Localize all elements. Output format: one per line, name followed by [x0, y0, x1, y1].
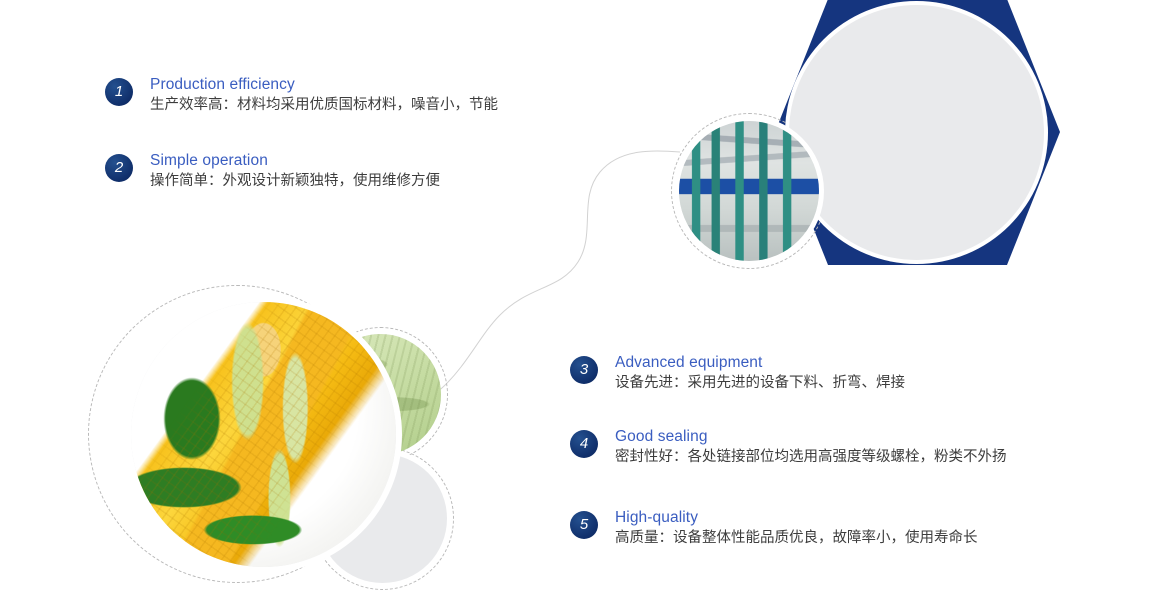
feature-text-5: High-quality 高质量：设备整体性能品质优良，故障率小，使用寿命长 — [615, 508, 978, 549]
feature-title-3: Advanced equipment — [615, 353, 905, 372]
feature-title-4: Good sealing — [615, 427, 1007, 446]
feature-item-3[interactable]: 3 Advanced equipment 设备先进：采用先进的设备下料、折弯、焊… — [570, 353, 905, 394]
feature-desc-2: 操作简单：外观设计新颖独特，使用维修方便 — [150, 171, 440, 192]
feature-item-4[interactable]: 4 Good sealing 密封性好：各处链接部位均选用高强度等级螺栓，粉类不… — [570, 427, 1007, 468]
mill-large-photo — [789, 5, 1044, 260]
feature-desc-3: 设备先进：采用先进的设备下料、折弯、焊接 — [615, 373, 905, 394]
feature-text-2: Simple operation 操作简单：外观设计新颖独特，使用维修方便 — [150, 151, 440, 192]
feature-badge-3: 3 — [570, 356, 598, 384]
corn-main-photo — [131, 302, 396, 567]
feature-desc-1: 生产效率高：材料均采用优质国标材料，噪音小，节能 — [150, 95, 498, 116]
mill-small-photo — [679, 121, 819, 261]
infographic-canvas: 1 Production efficiency 生产效率高：材料均采用优质国标材… — [0, 0, 1154, 591]
feature-item-5[interactable]: 5 High-quality 高质量：设备整体性能品质优良，故障率小，使用寿命长 — [570, 508, 978, 549]
feature-badge-1: 1 — [105, 78, 133, 106]
feature-badge-5: 5 — [570, 511, 598, 539]
feature-desc-4: 密封性好：各处链接部位均选用高强度等级螺栓，粉类不外扬 — [615, 447, 1007, 468]
feature-desc-5: 高质量：设备整体性能品质优良，故障率小，使用寿命长 — [615, 528, 978, 549]
feature-title-2: Simple operation — [150, 151, 440, 170]
feature-title-1: Production efficiency — [150, 75, 498, 94]
feature-text-4: Good sealing 密封性好：各处链接部位均选用高强度等级螺栓，粉类不外扬 — [615, 427, 1007, 468]
feature-badge-2: 2 — [105, 154, 133, 182]
feature-text-3: Advanced equipment 设备先进：采用先进的设备下料、折弯、焊接 — [615, 353, 905, 394]
feature-text-1: Production efficiency 生产效率高：材料均采用优质国标材料，… — [150, 75, 498, 116]
feature-title-5: High-quality — [615, 508, 978, 527]
feature-item-2[interactable]: 2 Simple operation 操作简单：外观设计新颖独特，使用维修方便 — [105, 151, 440, 192]
feature-item-1[interactable]: 1 Production efficiency 生产效率高：材料均采用优质国标材… — [105, 75, 498, 116]
feature-badge-4: 4 — [570, 430, 598, 458]
